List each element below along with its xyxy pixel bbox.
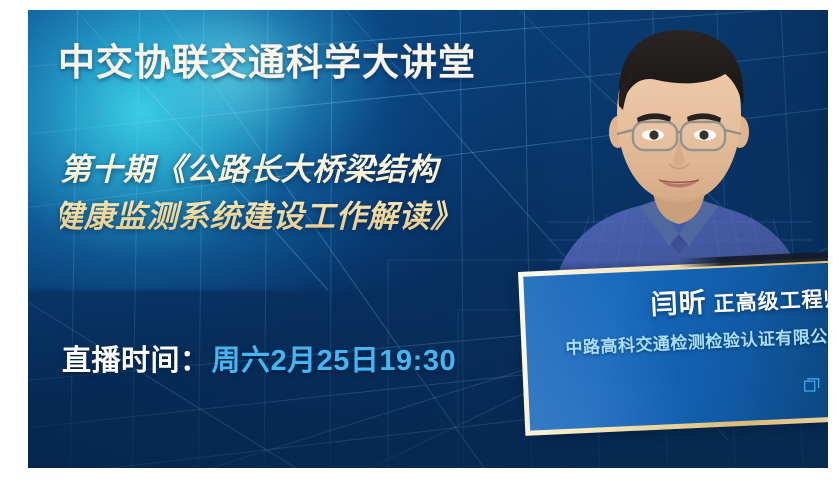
speaker-job-title: 正高级工程师: [713, 287, 828, 316]
promo-banner: 中交协联交通科学大讲堂 第十期《公路长大桥梁结构 健康监测系统建设工作解读》 直…: [28, 10, 828, 468]
speaker-name-row: 闫昕正高级工程师: [650, 283, 828, 319]
poster-root: 中交协联交通科学大讲堂 第十期《公路长大桥梁结构 健康监测系统建设工作解读》 直…: [0, 0, 840, 480]
page-title: 中交协联交通科学大讲堂: [58, 32, 476, 86]
episode-subtitle-line1: 第十期《公路长大桥梁结构: [60, 146, 580, 193]
window-glyph-icon: [804, 378, 820, 392]
live-time-row: 直播时间：周六2月25日19:30: [62, 337, 456, 379]
speaker-info-text: 闫昕正高级工程师 中路高科交通检测检验认证有限公司: [518, 256, 828, 436]
live-time-value: 周六2月25日19:30: [212, 345, 457, 377]
episode-subtitle-line2: 健康监测系统建设工作解读》: [60, 193, 580, 240]
speaker-organization: 中路高科交通检测检验认证有限公司: [565, 321, 828, 359]
speaker-info-plate: 闫昕正高级工程师 中路高科交通检测检验认证有限公司: [518, 256, 828, 436]
speaker-name: 闫昕: [650, 287, 707, 320]
live-time-label: 直播时间：: [62, 345, 210, 377]
episode-subtitle: 第十期《公路长大桥梁结构 健康监测系统建设工作解读》: [60, 146, 580, 240]
